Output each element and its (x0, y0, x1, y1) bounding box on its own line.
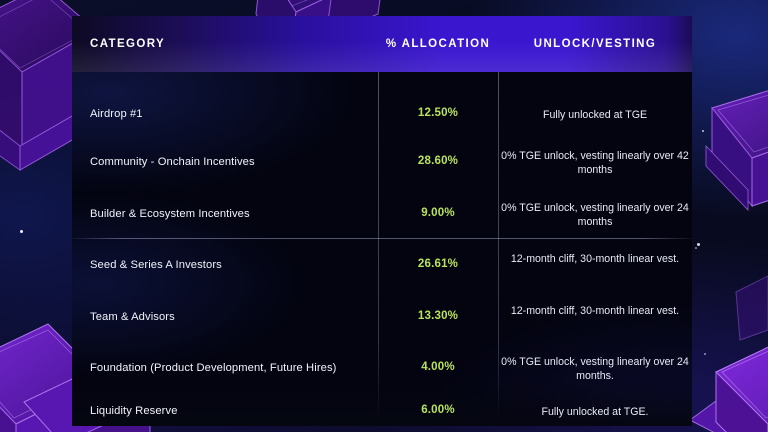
cell-unlock: 12-month cliff, 30-month linear vest. (498, 252, 692, 266)
cell-category: Builder & Ecosystem Incentives (90, 208, 250, 220)
cell-allocation: 26.61% (378, 258, 498, 270)
star-dot (697, 243, 700, 246)
section-divider (72, 238, 692, 239)
cell-unlock: 0% TGE unlock, vesting linearly over 42 … (498, 149, 692, 177)
cell-allocation: 9.00% (378, 207, 498, 219)
cell-category: Foundation (Product Development, Future … (90, 362, 337, 374)
cell-unlock: Fully unlocked at TGE. (498, 405, 692, 419)
cell-allocation: 6.00% (378, 404, 498, 416)
cube-outline-right-icon (736, 276, 768, 340)
cell-unlock: 0% TGE unlock, vesting linearly over 24 … (498, 201, 692, 229)
cell-category: Airdrop #1 (90, 108, 143, 120)
star-dot (20, 230, 23, 233)
column-header-unlock: UNLOCK/VESTING (498, 16, 692, 72)
star-dot (704, 353, 706, 355)
column-header-category: CATEGORY (90, 16, 165, 72)
column-header-allocation: % ALLOCATION (378, 16, 498, 72)
cell-allocation: 12.50% (378, 107, 498, 119)
cell-unlock: Fully unlocked at TGE (498, 108, 692, 122)
token-allocation-table: CATEGORY % ALLOCATION UNLOCK/VESTING Air… (72, 16, 692, 426)
cell-unlock: 0% TGE unlock, vesting linearly over 24 … (498, 355, 692, 383)
cell-category: Seed & Series A Investors (90, 259, 222, 271)
cell-allocation: 13.30% (378, 310, 498, 322)
table-body: Airdrop #1 12.50% Fully unlocked at TGE … (72, 72, 692, 426)
cell-category: Team & Advisors (90, 311, 175, 323)
star-dot (702, 130, 704, 132)
cell-category: Community - Onchain Incentives (90, 156, 255, 168)
table-header-row: CATEGORY % ALLOCATION UNLOCK/VESTING (72, 16, 692, 72)
cell-allocation: 4.00% (378, 361, 498, 373)
cube-bottom-right-icon (690, 332, 768, 432)
cube-right-mid-icon (706, 84, 768, 210)
cell-allocation: 28.60% (378, 155, 498, 167)
star-dot (695, 247, 697, 249)
cell-unlock: 12-month cliff, 30-month linear vest. (498, 304, 692, 318)
cell-category: Liquidity Reserve (90, 405, 178, 417)
